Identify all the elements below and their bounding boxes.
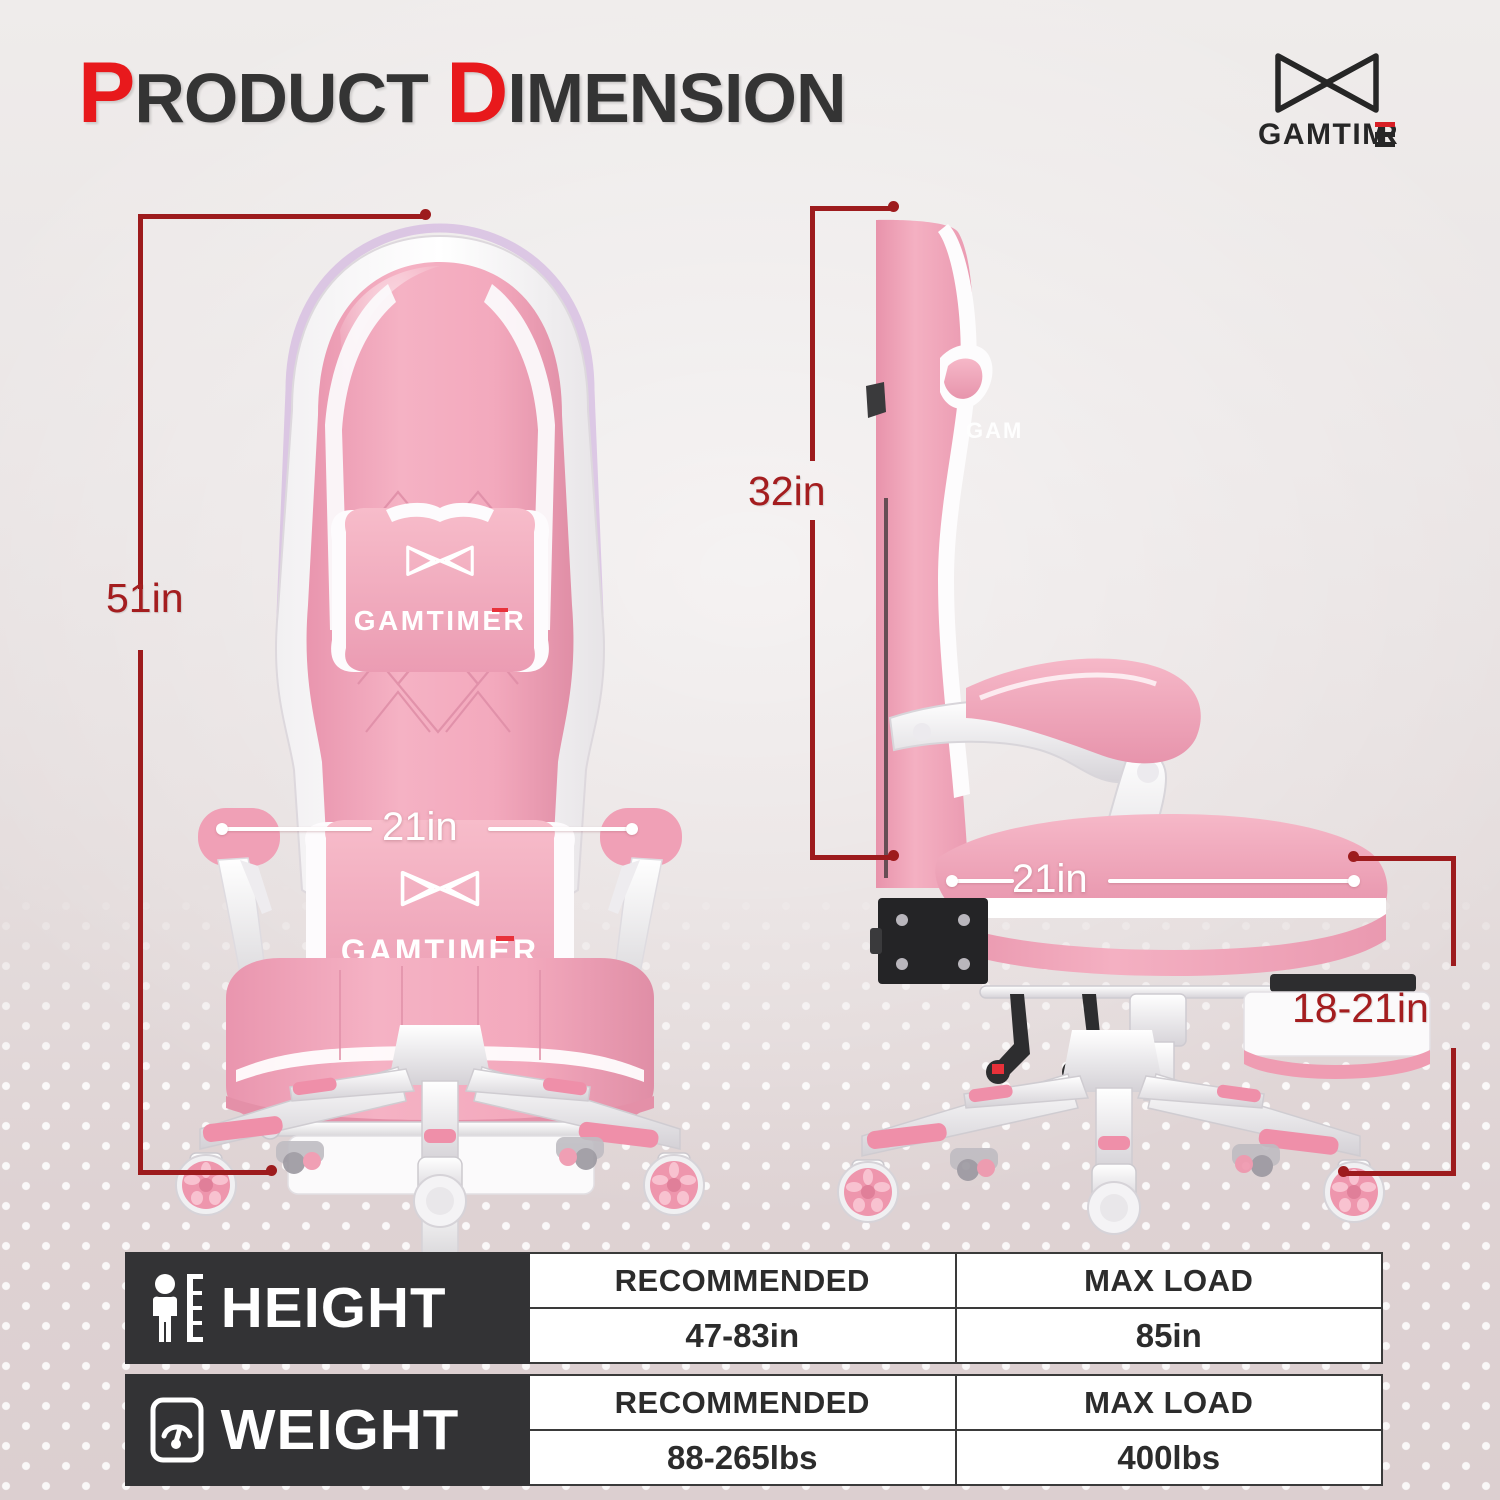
spec-val-maxload-height: 85in [957, 1309, 1382, 1362]
spec-columns-weight: RECOMMENDED 88-265lbs MAX LOAD 400lbs [530, 1374, 1383, 1486]
dim-18-21in-label: 18-21in [1292, 985, 1429, 1032]
spec-label-weight: WEIGHT [125, 1374, 530, 1486]
title-accent-p: P [78, 45, 134, 141]
dim-side-21in-dot-right [1348, 875, 1360, 887]
dim-18-21in-top-tick [1352, 856, 1456, 861]
dim-32in-vertical-upper [810, 206, 815, 461]
spec-label-height: HEIGHT [125, 1252, 530, 1364]
spec-col-recommended-weight: RECOMMENDED 88-265lbs [530, 1376, 955, 1484]
gamtimer-logo: GAMTIM R [1258, 44, 1448, 152]
page-title: PRODUCT DIMENSION [78, 44, 846, 143]
spec-word-height: HEIGHT [221, 1275, 447, 1341]
dim-side-21in-line-left [952, 879, 1014, 883]
dim-18-21in-bottom-tick [1342, 1171, 1456, 1176]
person-ruler-icon [147, 1272, 207, 1344]
spec-row-height: HEIGHT RECOMMENDED 47-83in MAX LOAD 85in [125, 1252, 1383, 1364]
title-text-roduct: RODUCT [134, 59, 446, 137]
dim-51in-bottom-tick [138, 1170, 273, 1175]
dim-18-21in-bottom-dot [1338, 1166, 1349, 1177]
spec-head-recommended-height: RECOMMENDED [530, 1254, 955, 1309]
spec-val-recommended-weight: 88-265lbs [530, 1431, 955, 1484]
spec-col-maxload-height: MAX LOAD 85in [955, 1254, 1382, 1362]
base-legs [200, 1067, 680, 1165]
bowtie-mark-icon [1278, 56, 1376, 110]
title-accent-d: D [446, 45, 507, 141]
dim-32in-top-tick [810, 206, 895, 211]
dim-51in-bottom-dot [266, 1165, 277, 1176]
dim-front-21in-dot-right [626, 823, 638, 835]
weight-scale-icon [147, 1394, 207, 1466]
gamtimer-wordmark: GAMTIM R [1258, 118, 1399, 151]
dim-51in-vertical [138, 214, 143, 589]
spec-val-maxload-weight: 400lbs [957, 1431, 1382, 1484]
dim-side-21in-line-right [1108, 879, 1354, 883]
dim-18-21in-vertical-upper [1451, 856, 1456, 966]
headrest-pillow: GAMTIMER [331, 503, 549, 672]
dim-18-21in-top-dot [1348, 851, 1359, 862]
spec-columns-height: RECOMMENDED 47-83in MAX LOAD 85in [530, 1252, 1383, 1364]
infographic-canvas: PRODUCT DIMENSION GAMTIM R [0, 0, 1500, 1500]
dim-32in-vertical-lower [810, 520, 815, 860]
side-brand-text: GAM [966, 418, 1023, 443]
dim-51in-top-dot [420, 209, 431, 220]
spec-head-maxload-weight: MAX LOAD [957, 1376, 1382, 1431]
spec-word-weight: WEIGHT [221, 1397, 460, 1463]
gamtimer-logo-svg: GAMTIM R [1258, 44, 1448, 152]
front-view-base [140, 1025, 740, 1255]
dim-32in-bottom-dot [888, 850, 899, 861]
dim-18-21in-vertical-lower [1451, 1048, 1456, 1176]
spec-head-maxload-height: MAX LOAD [957, 1254, 1382, 1309]
seat-mount-plate [870, 898, 988, 984]
dim-front-21in-line-left [222, 827, 372, 831]
spec-col-recommended-height: RECOMMENDED 47-83in [530, 1254, 955, 1362]
dim-51in-vertical-lower [138, 650, 143, 1175]
dim-32in-top-dot [888, 201, 899, 212]
dim-side-21in-dot-left [946, 875, 958, 887]
side-view-base [800, 1030, 1420, 1260]
side-seat-cushion [930, 814, 1387, 976]
spec-row-weight: WEIGHT RECOMMENDED 88-265lbs MAX LOAD 40… [125, 1374, 1383, 1486]
dim-51in-top-tick [138, 214, 428, 219]
dim-side-21in-label: 21in [1012, 857, 1088, 902]
title-text-imension: IMENSION [507, 59, 845, 137]
base-legs-side [862, 1074, 1360, 1172]
svg-text:GAMTIM: GAMTIM [1258, 118, 1389, 151]
dim-32in-label: 32in [748, 468, 826, 515]
spec-val-recommended-height: 47-83in [530, 1309, 955, 1362]
dim-32in-bottom-tick [810, 855, 895, 860]
spec-head-recommended-weight: RECOMMENDED [530, 1376, 955, 1431]
dim-51in-label: 51in [106, 575, 184, 622]
recline-lever [866, 382, 886, 418]
dim-front-21in-dot-left [216, 823, 228, 835]
dim-front-21in-label: 21in [382, 805, 458, 850]
dim-front-21in-line-right [488, 827, 632, 831]
spec-col-maxload-weight: MAX LOAD 400lbs [955, 1376, 1382, 1484]
